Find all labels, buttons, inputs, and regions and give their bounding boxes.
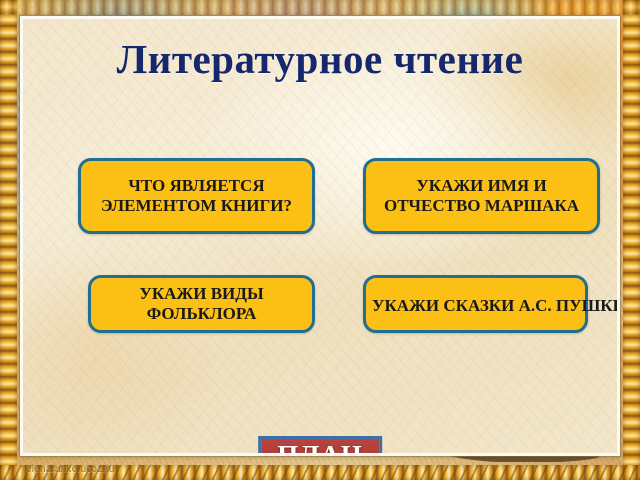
- slide-title: Литературное чтение: [23, 35, 617, 83]
- question-button-marshak-name[interactable]: УКАЖИ ИМЯ И ОТЧЕСТВО МАРШАКА: [363, 158, 600, 234]
- question-button-pushkin-tales[interactable]: УКАЖИ СКАЗКИ А.С. ПУШКИНА: [363, 275, 588, 333]
- question-button-label: ЧТО ЯВЛЯЕТСЯ ЭЛЕМЕНТОМ КНИГИ?: [87, 176, 306, 215]
- question-button-label: УКАЖИ СКАЗКИ А.С. ПУШКИНА: [372, 296, 579, 316]
- presentation-slide: Литературное чтение ЧТО ЯВЛЯЕТСЯ ЭЛЕМЕНТ…: [0, 0, 640, 480]
- watermark-text: elenaranko.ucoz.ru: [26, 464, 115, 475]
- question-button-label: УКАЖИ ИМЯ И ОТЧЕСТВО МАРШАКА: [372, 176, 591, 215]
- slide-content-panel: Литературное чтение ЧТО ЯВЛЯЕТСЯ ЭЛЕМЕНТ…: [20, 16, 620, 456]
- question-button-label: УКАЖИ ВИДЫ ФОЛЬКЛОРА: [97, 284, 306, 323]
- plan-button[interactable]: ПЛАН: [258, 436, 382, 456]
- question-button-folklore-types[interactable]: УКАЖИ ВИДЫ ФОЛЬКЛОРА: [88, 275, 315, 333]
- question-button-element-of-book[interactable]: ЧТО ЯВЛЯЕТСЯ ЭЛЕМЕНТОМ КНИГИ?: [78, 158, 315, 234]
